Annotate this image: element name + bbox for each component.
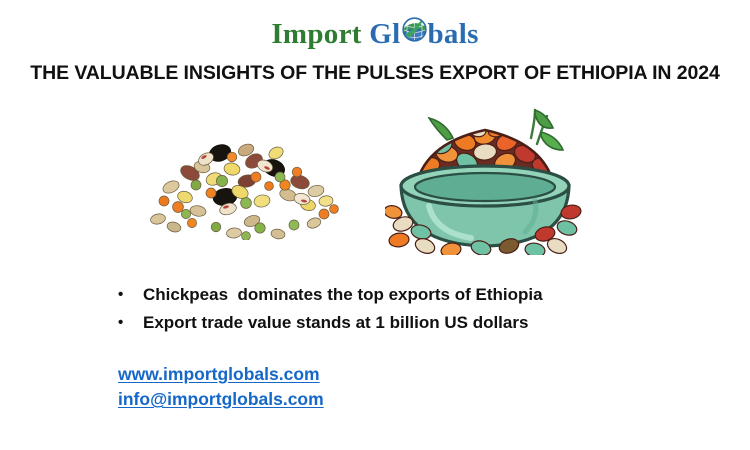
brand-logo: Import Gl — [0, 16, 750, 51]
logo-text-bals: bals — [428, 17, 479, 51]
bowl-of-beans-illustration — [385, 100, 585, 255]
list-item-label: Export trade value stands at 1 billion U… — [143, 309, 718, 337]
poster-root: Import Gl — [0, 0, 750, 450]
insights-list: • Chickpeas dominates the top exports of… — [118, 281, 718, 337]
artwork-area — [0, 100, 750, 250]
website-link[interactable]: www.importglobals.com — [118, 362, 324, 387]
list-item-label: Chickpeas dominates the top exports of E… — [143, 281, 718, 309]
bullet-icon: • — [118, 281, 143, 309]
logo-text-import: Import — [271, 17, 361, 51]
contact-links: www.importglobals.com info@importglobals… — [118, 362, 324, 412]
logo-text-gl: Gl — [369, 17, 400, 51]
bullet-icon: • — [118, 309, 143, 337]
email-link[interactable]: info@importglobals.com — [118, 387, 324, 412]
mixed-pulses-pile-illustration — [128, 135, 340, 240]
globe-icon — [401, 16, 428, 43]
list-item: • Export trade value stands at 1 billion… — [118, 309, 718, 337]
list-item: • Chickpeas dominates the top exports of… — [118, 281, 718, 309]
page-title: THE VALUABLE INSIGHTS OF THE PULSES EXPO… — [0, 60, 750, 86]
